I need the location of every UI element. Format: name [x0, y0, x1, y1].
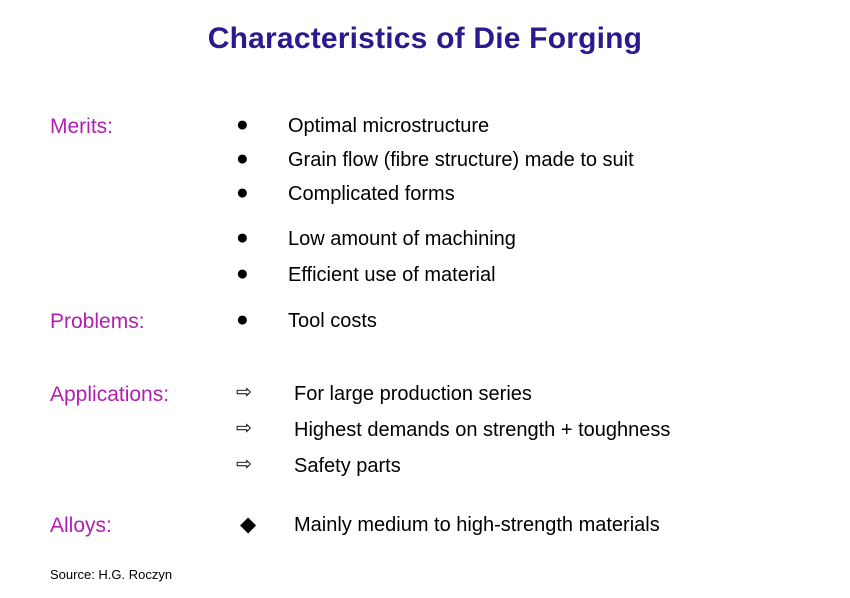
- list-item-label: Mainly medium to high-strength materials: [294, 514, 660, 536]
- list-item-label: Efficient use of material: [288, 264, 496, 286]
- section-items-alloys: ◆ Mainly medium to high-strength materia…: [236, 515, 846, 539]
- bullet-arrow-right-icon: ⇨: [236, 419, 276, 438]
- list-item: ● Grain flow (fibre structure) made to s…: [236, 150, 846, 174]
- list-item: ● Low amount of machining: [236, 229, 846, 253]
- source-note: Source: H.G. Roczyn: [50, 568, 172, 581]
- page-title: Characteristics of Die Forging: [0, 22, 850, 56]
- section-items-merits: ● Optimal microstructure ● Grain flow (f…: [236, 116, 846, 289]
- list-item: ⇨ Safety parts: [236, 456, 846, 480]
- list-item: ● Efficient use of material: [236, 265, 846, 289]
- list-item: ● Optimal microstructure: [236, 116, 846, 140]
- list-item: ● Complicated forms: [236, 184, 846, 208]
- section-label-applications: Applications:: [50, 384, 169, 405]
- section-label-problems: Problems:: [50, 311, 145, 332]
- list-item-label: For large production series: [294, 383, 532, 405]
- list-item: ⇨ Highest demands on strength + toughnes…: [236, 420, 846, 444]
- list-item-label: Optimal microstructure: [288, 115, 489, 137]
- section-label-alloys: Alloys:: [50, 515, 112, 536]
- bullet-disc-icon: ●: [236, 227, 276, 248]
- bullet-diamond-icon: ◆: [240, 514, 280, 535]
- list-item-label: Complicated forms: [288, 183, 455, 205]
- section-items-applications: ⇨ For large production series ⇨ Highest …: [236, 384, 846, 480]
- bullet-arrow-right-icon: ⇨: [236, 383, 276, 402]
- section-items-problems: ● Tool costs: [236, 311, 846, 335]
- list-item: ◆ Mainly medium to high-strength materia…: [236, 515, 846, 539]
- bullet-disc-icon: ●: [236, 309, 276, 330]
- bullet-arrow-right-icon: ⇨: [236, 455, 276, 474]
- bullet-disc-icon: ●: [236, 114, 276, 135]
- list-item-label: Low amount of machining: [288, 228, 516, 250]
- bullet-disc-icon: ●: [236, 182, 276, 203]
- list-item-label: Grain flow (fibre structure) made to sui…: [288, 149, 634, 171]
- slide-canvas: Characteristics of Die Forging Merits: ●…: [0, 0, 850, 598]
- list-item-label: Highest demands on strength + toughness: [294, 419, 670, 441]
- list-item-label: Safety parts: [294, 455, 401, 477]
- bullet-disc-icon: ●: [236, 263, 276, 284]
- bullet-disc-icon: ●: [236, 148, 276, 169]
- list-item-label: Tool costs: [288, 310, 377, 332]
- list-item: ● Tool costs: [236, 311, 846, 335]
- section-label-merits: Merits:: [50, 116, 113, 137]
- list-item: ⇨ For large production series: [236, 384, 846, 408]
